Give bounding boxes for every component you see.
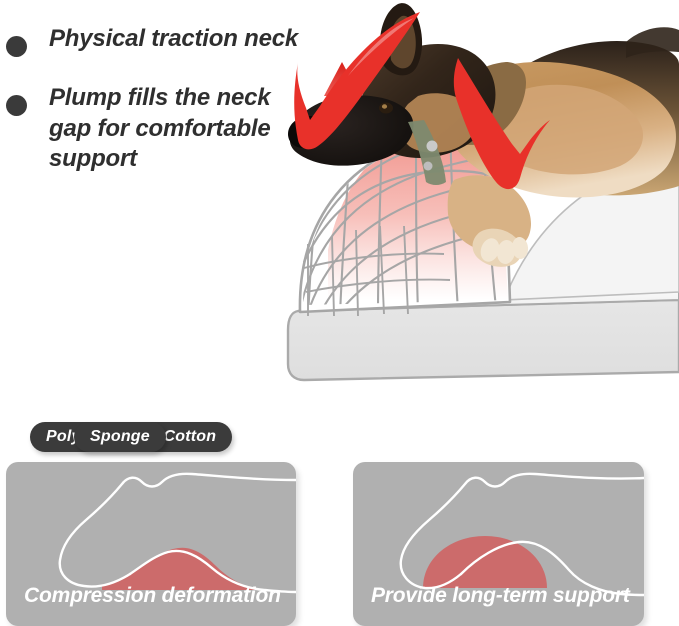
badge-sponge: Sponge [74, 422, 166, 452]
panel-caption: Provide long-term support [371, 584, 630, 608]
infographic-root: Physical traction neck Plump fills the n… [0, 0, 679, 626]
pet-bed-mattress-diagram [268, 0, 679, 420]
badge-label: Sponge [90, 428, 150, 446]
feature-label: Physical traction neck [49, 24, 298, 55]
bullet-dot-icon [6, 36, 27, 57]
comparison-panels: Compression deformation Polypropylene Co… [0, 440, 679, 626]
mattress-base [288, 300, 679, 380]
bullet-dot-icon [6, 95, 27, 116]
hero-illustration [268, 0, 679, 420]
panel-polypropylene-cotton: Compression deformation [6, 462, 296, 626]
panel-caption: Compression deformation [24, 584, 281, 608]
panel-sponge: Provide long-term support [353, 462, 644, 626]
bolster-fill-domed [423, 536, 547, 588]
